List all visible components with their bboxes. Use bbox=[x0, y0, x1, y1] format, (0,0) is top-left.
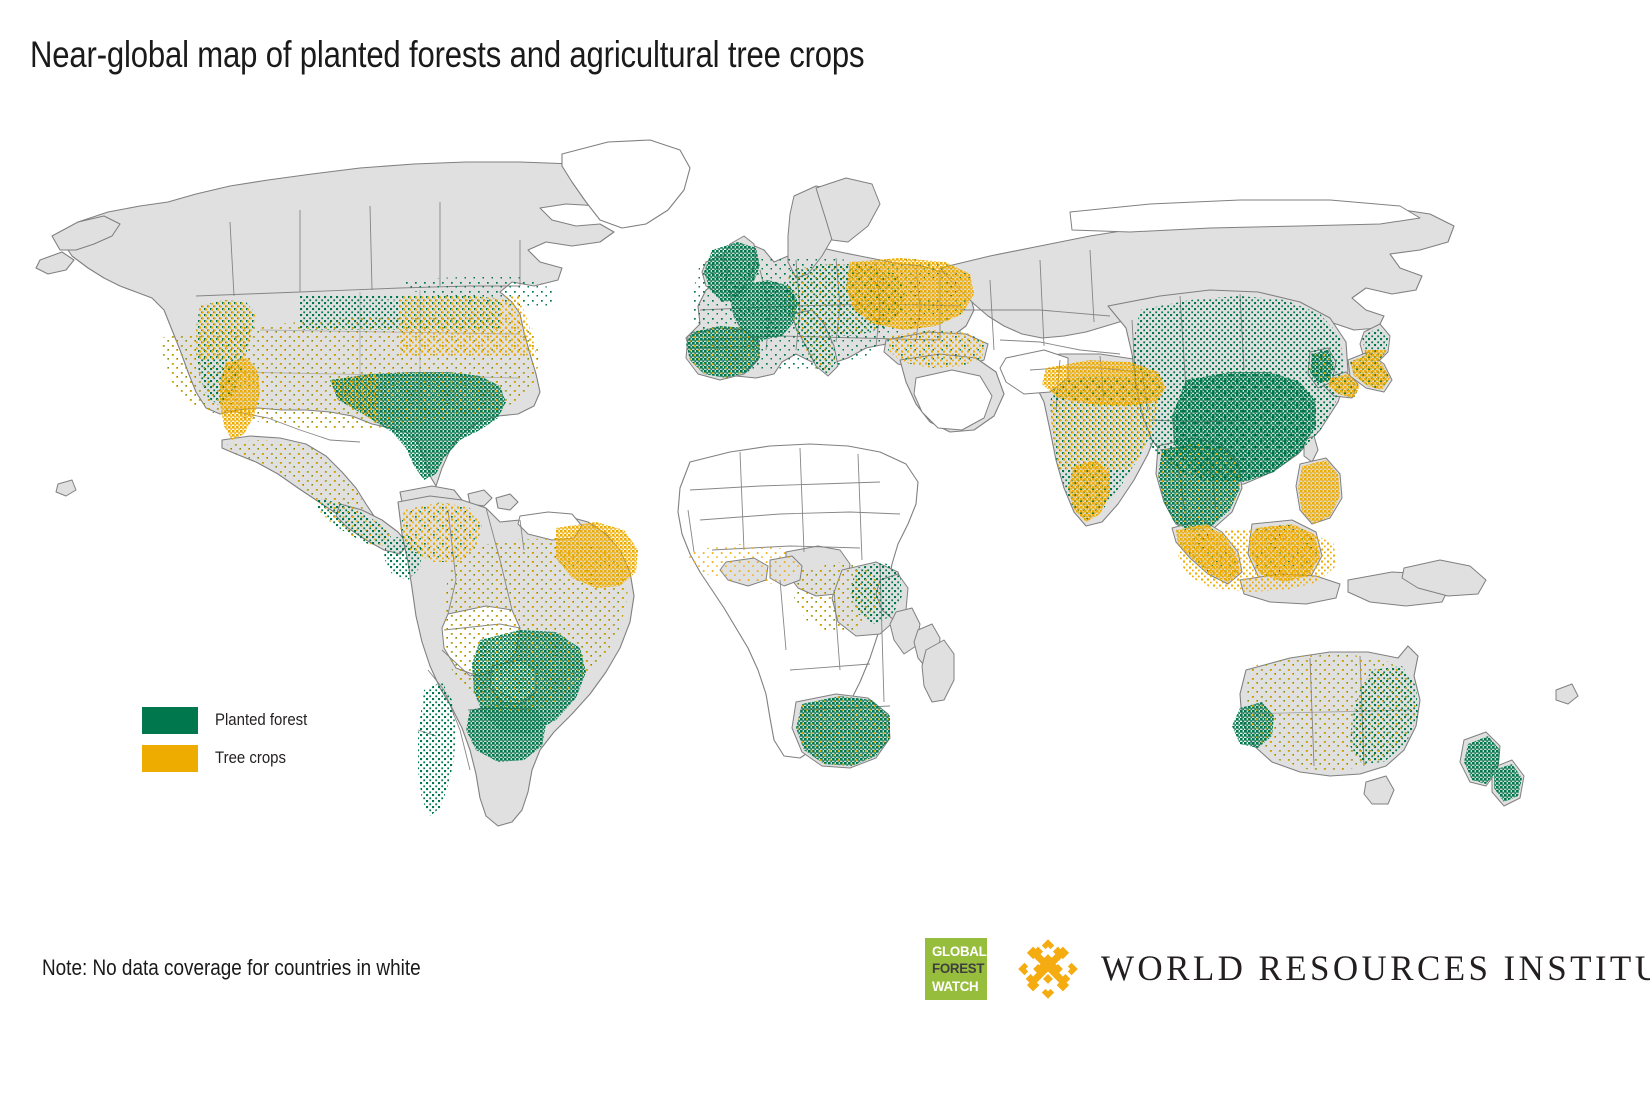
world-map-svg bbox=[0, 110, 1650, 900]
world-map bbox=[0, 110, 1650, 900]
legend-label-tree-crops: Tree crops bbox=[215, 748, 286, 768]
wri-knot-icon bbox=[1017, 938, 1079, 1000]
legend-item-tree-crops: Tree crops bbox=[142, 743, 320, 773]
global-forest-watch-logo: GLOBAL FOREST WATCH bbox=[925, 938, 987, 1000]
page-title: Near-global map of planted forests and a… bbox=[30, 36, 864, 75]
gfw-line-watch: WATCH bbox=[932, 978, 978, 995]
wri-wordmark: WORLD RESOURCES INSTITUTE bbox=[1101, 949, 1650, 990]
map-note: Note: No data coverage for countries in … bbox=[42, 955, 421, 981]
map-legend: Planted forest Tree crops bbox=[142, 705, 320, 781]
legend-swatch-planted-forest bbox=[142, 707, 198, 734]
legend-label-planted-forest: Planted forest bbox=[215, 710, 307, 730]
gfw-line-global: GLOBAL bbox=[932, 943, 986, 960]
legend-swatch-tree-crops bbox=[142, 745, 198, 772]
logo-group: GLOBAL FOREST WATCH WORLD RESOURCES INST… bbox=[925, 938, 1650, 1000]
gfw-line-forest: FOREST bbox=[932, 960, 984, 977]
legend-item-planted-forest: Planted forest bbox=[142, 705, 320, 735]
